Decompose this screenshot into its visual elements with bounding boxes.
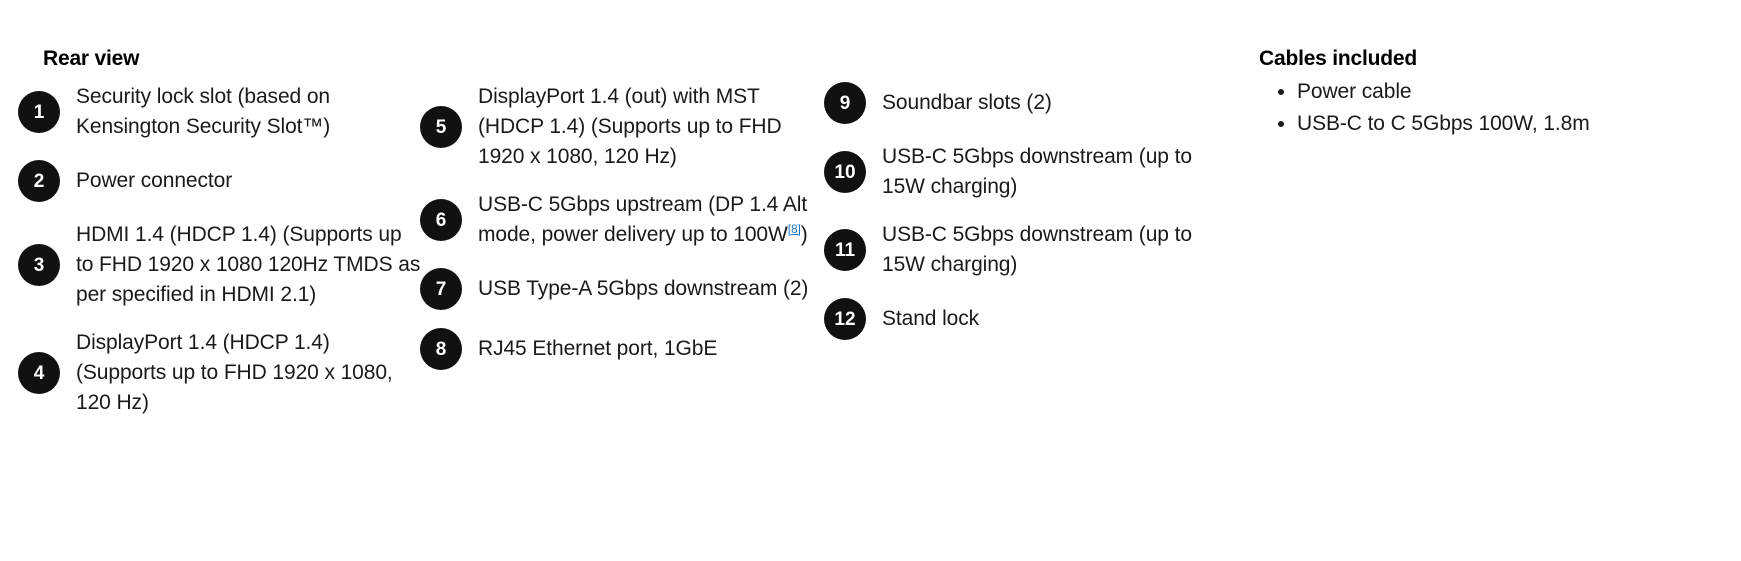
port-number-badge: 7 — [420, 268, 462, 310]
port-number-badge: 11 — [824, 229, 866, 271]
port-column-1: 1 Security lock slot (based on Kensingto… — [18, 82, 428, 418]
list-item: USB-C to C 5Gbps 100W, 1.8m — [1297, 108, 1590, 140]
list-item: 6 USB-C 5Gbps upstream (DP 1.4 Alt mode,… — [420, 190, 830, 250]
list-item: 2 Power connector — [18, 160, 428, 202]
list-item: 8 RJ45 Ethernet port, 1GbE — [420, 328, 830, 370]
cables-included-list: Power cable USB-C to C 5Gbps 100W, 1.8m — [1271, 76, 1590, 140]
port-description-text: USB-C 5Gbps upstream (DP 1.4 Alt mode, p… — [478, 193, 807, 246]
port-description: USB Type-A 5Gbps downstream (2) — [478, 274, 808, 304]
port-description: Power connector — [76, 166, 232, 196]
port-description: Stand lock — [882, 304, 979, 334]
port-description: USB-C 5Gbps downstream (up to 15W chargi… — [882, 142, 1232, 202]
list-item: 7 USB Type-A 5Gbps downstream (2) — [420, 268, 830, 310]
port-description: DisplayPort 1.4 (HDCP 1.4) (Supports up … — [76, 328, 421, 418]
cables-included-heading: Cables included — [1259, 47, 1417, 71]
list-item: 11 USB-C 5Gbps downstream (up to 15W cha… — [824, 220, 1244, 280]
port-description: Security lock slot (based on Kensington … — [76, 82, 421, 142]
list-item: 3 HDMI 1.4 (HDCP 1.4) (Supports up to FH… — [18, 220, 428, 310]
footnote-link-8[interactable]: [8] — [788, 222, 801, 236]
port-description: USB-C 5Gbps downstream (up to 15W chargi… — [882, 220, 1232, 280]
list-item: 10 USB-C 5Gbps downstream (up to 15W cha… — [824, 142, 1244, 202]
list-item: Power cable — [1297, 76, 1590, 108]
list-item: 4 DisplayPort 1.4 (HDCP 1.4) (Supports u… — [18, 328, 428, 418]
port-number-badge: 5 — [420, 106, 462, 148]
port-description: DisplayPort 1.4 (out) with MST (HDCP 1.4… — [478, 82, 828, 172]
list-item: 1 Security lock slot (based on Kensingto… — [18, 82, 428, 142]
port-number-badge: 6 — [420, 199, 462, 241]
port-number-badge: 9 — [824, 82, 866, 124]
list-item: 12 Stand lock — [824, 298, 1244, 340]
list-item: 5 DisplayPort 1.4 (out) with MST (HDCP 1… — [420, 82, 830, 172]
port-description: Soundbar slots (2) — [882, 88, 1052, 118]
port-description: USB-C 5Gbps upstream (DP 1.4 Alt mode, p… — [478, 190, 828, 250]
port-description-text-after: ) — [801, 223, 808, 246]
port-description: HDMI 1.4 (HDCP 1.4) (Supports up to FHD … — [76, 220, 421, 310]
port-number-badge: 3 — [18, 244, 60, 286]
port-column-3: 9 Soundbar slots (2) 10 USB-C 5Gbps down… — [824, 82, 1244, 340]
port-number-badge: 10 — [824, 151, 866, 193]
spec-callout-page: Rear view Cables included 1 Security loc… — [0, 0, 1741, 561]
rear-view-heading: Rear view — [43, 47, 139, 71]
port-number-badge: 1 — [18, 91, 60, 133]
port-number-badge: 4 — [18, 352, 60, 394]
port-number-badge: 2 — [18, 160, 60, 202]
port-description: RJ45 Ethernet port, 1GbE — [478, 334, 717, 364]
port-column-2: 5 DisplayPort 1.4 (out) with MST (HDCP 1… — [420, 82, 830, 370]
port-number-badge: 8 — [420, 328, 462, 370]
list-item: 9 Soundbar slots (2) — [824, 82, 1244, 124]
port-number-badge: 12 — [824, 298, 866, 340]
